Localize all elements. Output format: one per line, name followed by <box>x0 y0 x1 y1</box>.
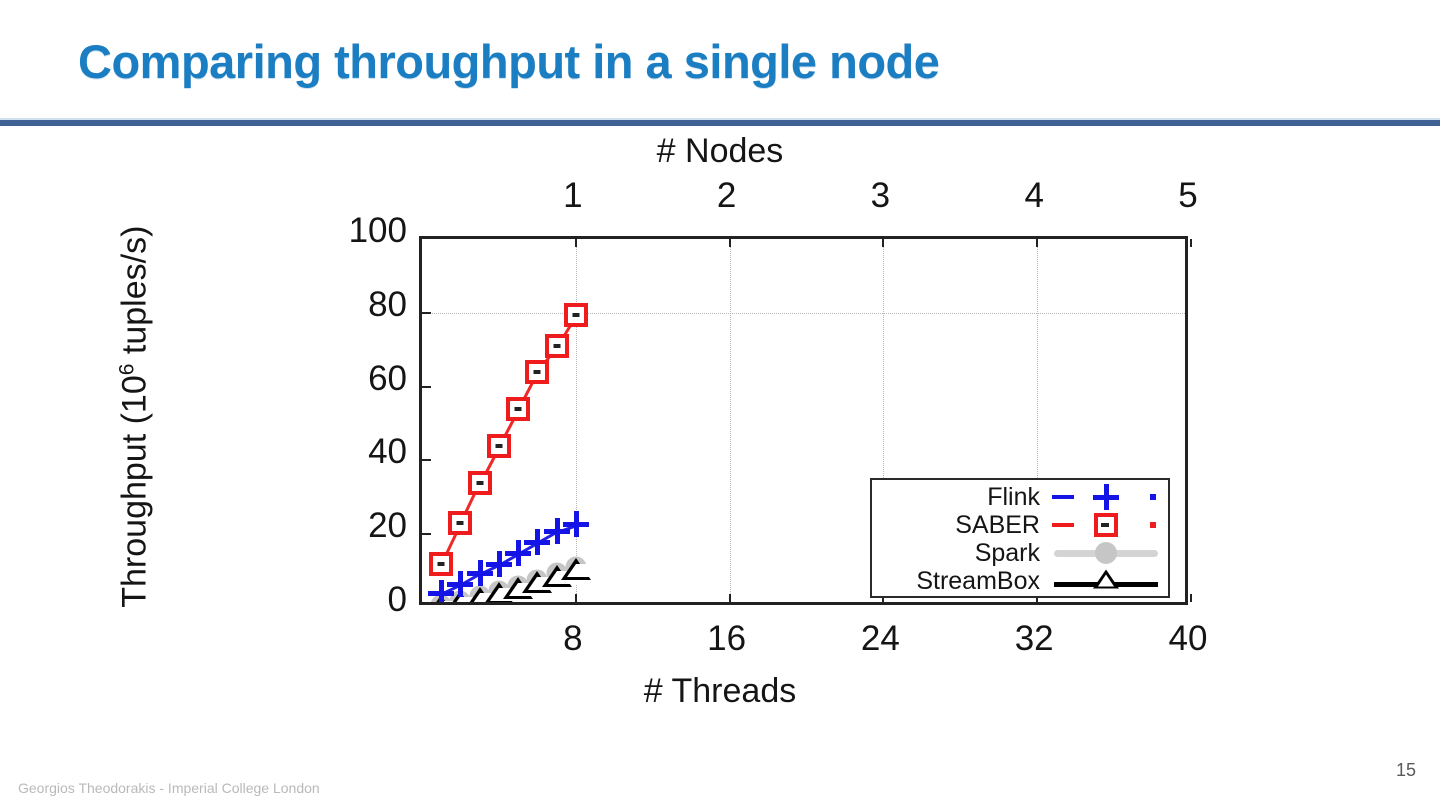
chart-x-tick <box>882 239 884 247</box>
chart-x-tick <box>575 594 577 602</box>
legend-swatch-saber <box>1050 512 1162 538</box>
chart-marker-saber <box>468 471 492 495</box>
chart-x-tick <box>1190 239 1192 247</box>
chart-top-tick-label: 3 <box>820 176 940 216</box>
chart-y-tick <box>422 533 431 535</box>
chart-y-tick <box>422 312 431 314</box>
chart-marker-saber <box>564 303 588 327</box>
chart-gridline-vertical <box>576 239 577 602</box>
legend-label-flink: Flink <box>987 483 1040 512</box>
page-title: Comparing throughput in a single node <box>78 34 939 89</box>
page-number: 15 <box>1396 760 1416 781</box>
chart-marker-saber <box>448 511 472 535</box>
legend-item-streambox: StreamBox <box>872 567 1162 595</box>
legend-item-saber: SABER <box>872 511 1162 539</box>
chart-gridline-horizontal <box>422 313 1185 314</box>
legend-swatch-streambox <box>1050 568 1162 594</box>
chart-y-tick-label: 20 <box>247 506 407 546</box>
chart-x-tick-label: 16 <box>667 619 787 659</box>
chart-x-tick <box>1190 594 1192 602</box>
chart-y-tick-label: 80 <box>247 285 407 325</box>
chart-y-axis-title: Throughput (106 tuples/s) <box>115 187 154 647</box>
chart-x-tick <box>575 239 577 247</box>
legend-swatch-spark <box>1050 540 1162 566</box>
chart-top-axis-title: # Nodes <box>0 132 1440 171</box>
chart-legend: Flink SABER Spark <box>870 478 1170 598</box>
chart-x-tick <box>729 239 731 247</box>
legend-label-spark: Spark <box>975 539 1040 568</box>
chart-marker-saber <box>487 434 511 458</box>
legend-swatch-flink <box>1050 484 1162 510</box>
title-divider-bar <box>0 120 1440 126</box>
chart-x-tick-label: 8 <box>513 619 633 659</box>
chart-marker-saber <box>429 552 453 576</box>
chart-x-tick-label: 24 <box>820 619 940 659</box>
chart-x-tick <box>729 594 731 602</box>
chart-y-tick <box>422 386 431 388</box>
chart-x-tick-label: 40 <box>1128 619 1248 659</box>
throughput-chart: # Nodes Throughput (106 tuples/s) # Thre… <box>0 127 1440 747</box>
chart-y-tick-label: 40 <box>247 432 407 472</box>
footer-author: Georgios Theodorakis - Imperial College … <box>18 780 320 796</box>
title-divider <box>0 118 1440 127</box>
chart-y-tick-label: 60 <box>247 359 407 399</box>
chart-y-tick-label: 100 <box>247 211 407 251</box>
chart-top-tick-label: 5 <box>1128 176 1248 216</box>
legend-label-streambox: StreamBox <box>916 567 1040 596</box>
chart-marker-saber <box>525 360 549 384</box>
chart-marker-streambox <box>561 558 591 580</box>
legend-item-spark: Spark <box>872 539 1162 567</box>
chart-marker-saber <box>506 397 530 421</box>
chart-x-tick <box>1036 239 1038 247</box>
legend-label-saber: SABER <box>955 511 1040 540</box>
chart-y-tick <box>422 459 431 461</box>
chart-marker-flink <box>563 511 589 537</box>
chart-top-tick-label: 2 <box>667 176 787 216</box>
chart-x-axis-title: # Threads <box>0 672 1440 711</box>
chart-gridline-vertical <box>730 239 731 602</box>
chart-top-tick-label: 1 <box>513 176 633 216</box>
chart-marker-saber <box>545 334 569 358</box>
chart-x-tick-label: 32 <box>974 619 1094 659</box>
chart-top-tick-label: 4 <box>974 176 1094 216</box>
legend-item-flink: Flink <box>872 483 1162 511</box>
chart-y-tick-label: 0 <box>247 580 407 620</box>
